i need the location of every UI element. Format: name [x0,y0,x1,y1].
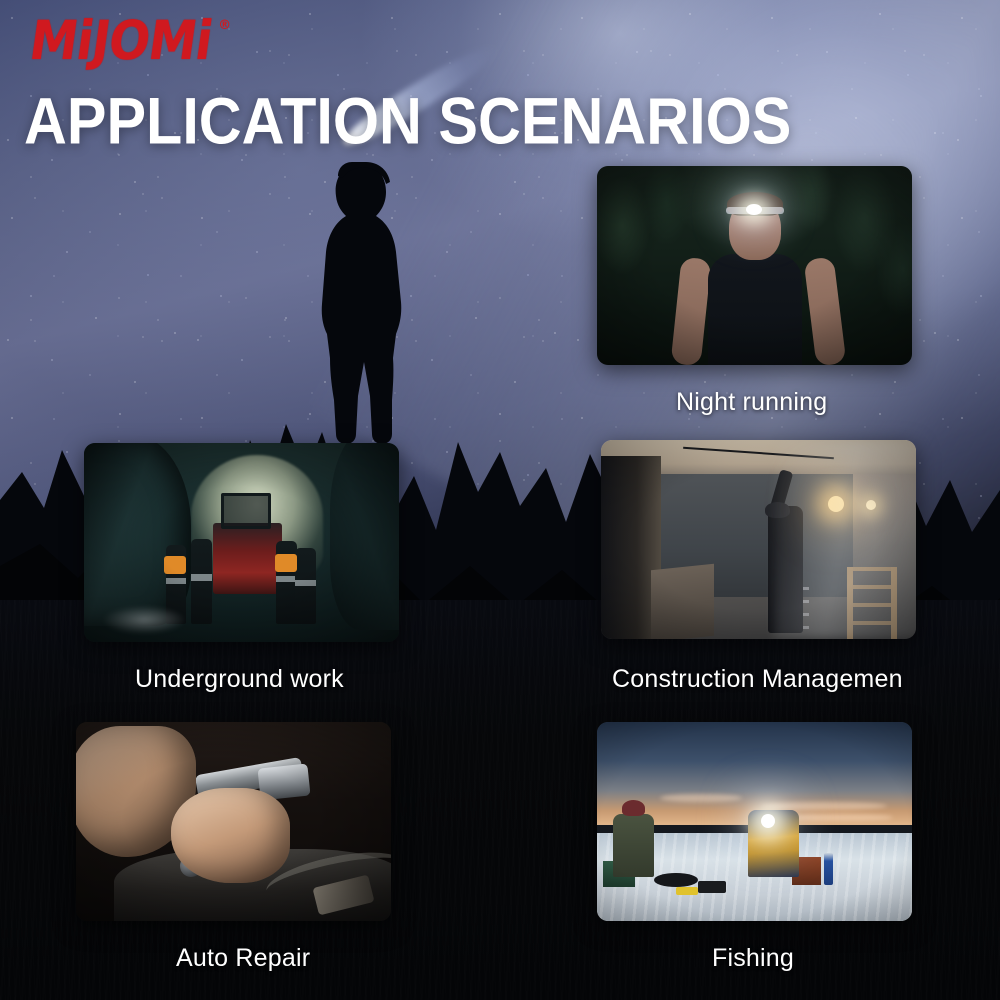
photo-vignette [601,440,916,639]
scenario-caption-fishing: Fishing [712,944,794,973]
page-title: APPLICATION SCENARIOS [24,88,791,154]
scenario-caption-construction-management: Construction Managemen [612,665,903,694]
photo-vignette [76,722,391,921]
person-silhouette-icon [296,148,436,448]
scenario-photo-underground-work [84,443,399,642]
scenario-card-night-running[interactable] [597,166,912,365]
scenario-card-auto-repair[interactable] [76,722,391,921]
scenario-card-construction-management[interactable] [601,440,916,639]
scenario-photo-fishing [597,722,912,921]
scenario-caption-auto-repair: Auto Repair [176,944,310,973]
photo-vignette [84,443,399,642]
scenario-caption-underground-work: Underground work [135,665,344,694]
photo-vignette [597,722,912,921]
photo-vignette [597,166,912,365]
hero-silhouette-figure [296,148,436,448]
application-scenarios-poster: MiJOMi ® APPLICATION SCENARIOS Night run… [0,0,1000,1000]
scenario-caption-night-running: Night running [676,388,827,417]
registered-trademark-icon: ® [218,18,231,33]
scenario-card-fishing[interactable] [597,722,912,921]
scenario-card-underground-work[interactable] [84,443,399,642]
brand-logo: MiJOMi ® [34,14,231,62]
scenario-photo-night-running [597,166,912,365]
brand-logo-text: MiJOMi [26,14,215,68]
scenario-photo-auto-repair [76,722,391,921]
scenario-photo-construction-management [601,440,916,639]
